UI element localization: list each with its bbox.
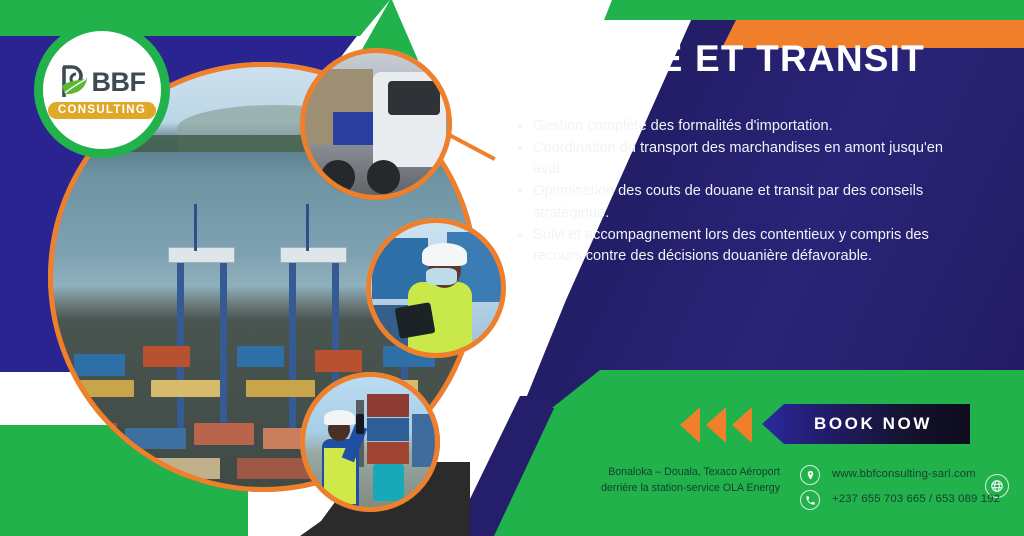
logo-tagline: CONSULTING [48,102,156,119]
logo-text: BBF [92,69,146,96]
address-text: Bonaloka – Douala, Texaco Aéroport derri… [590,464,780,497]
location-pin-icon [800,465,820,485]
logo-wordmark-row: BBF [59,65,146,99]
truck-photo-ring [300,48,452,200]
poster-canvas: BBF CONSULTING DOUANE ET TRANSIT Gestion… [0,0,1024,536]
chevron-left-icon [706,407,726,443]
list-item: Suivi et accompagnement lors des content… [533,225,976,267]
list-item: Gestion complète des formalités d'import… [533,116,976,137]
container [48,458,125,480]
inspector-photo-ring [366,218,506,358]
chevron-left-icon [680,407,700,443]
footer-contact: Bonaloka – Douala, Texaco Aéroport derri… [560,462,1010,522]
leaf-emblem-icon [59,65,91,99]
services-list: Gestion complète des formalités d'import… [516,116,976,268]
book-now-button[interactable]: BOOK NOW [762,404,970,444]
page-title: DOUANE ET TRANSIT [516,40,996,79]
website-text[interactable]: www.bbfconsulting-sarl.com [832,468,976,480]
bbf-logo[interactable]: BBF CONSULTING [34,22,170,158]
cta-group[interactable]: BOOK NOW [680,404,970,446]
phone-text[interactable]: +237 655 703 665 / 653 089 192 [832,493,1000,505]
phone-icon [800,490,820,510]
worker-radio-photo-ring [300,372,440,512]
book-now-label: BOOK NOW [800,414,932,434]
list-item: Optimisation des couts de douane et tran… [533,181,976,223]
list-item: Coordination du transport des marchandis… [533,138,976,180]
chevron-left-icon [732,407,752,443]
